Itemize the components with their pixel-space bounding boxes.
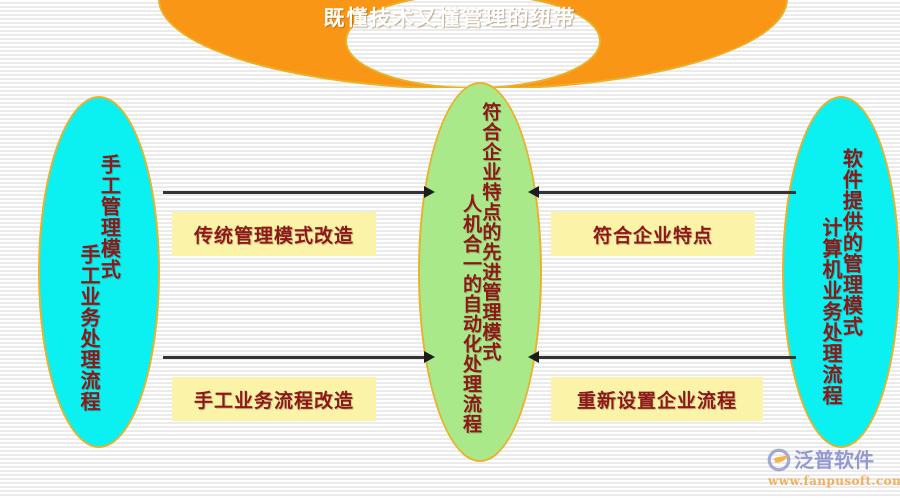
arrow-shaft: [537, 191, 796, 194]
integrated-mode-ellipse: 符合企业特点的先进管理模式 人机合一的自动化处理流程: [418, 82, 542, 462]
integrated-mode-secondary-label: 人机合一的自动化处理流程: [461, 194, 480, 434]
fanpu-logo-icon: [766, 447, 792, 473]
arrow-right-top: [528, 186, 796, 198]
arrow-shaft: [537, 356, 796, 359]
label-right-bottom: 重新设置企业流程: [551, 377, 763, 421]
slide-canvas: 既懂技术又懂管理的纽带 手工管理模式 手工业务处理流程 符合企业特点的先进管理模…: [0, 0, 900, 498]
arrow-left-bottom: [163, 351, 435, 363]
watermark-brand-row: 泛普软件: [766, 447, 874, 473]
label-left-bottom: 手工业务流程改造: [172, 377, 376, 421]
software-mode-secondary-label: 计算机业务处理流程: [821, 217, 841, 406]
arrow-head-right-icon: [424, 351, 435, 363]
arrow-shaft: [163, 191, 426, 194]
watermark-logo: 泛普软件 www.fanpusoft.com: [766, 447, 898, 495]
arrow-head-right-icon: [424, 186, 435, 198]
arrow-head-left-icon: [528, 186, 539, 198]
label-right-top: 符合企业特点: [551, 212, 755, 256]
manual-mode-ellipse: 手工管理模式 手工业务处理流程: [38, 96, 160, 448]
label-left-top: 传统管理模式改造: [172, 212, 376, 256]
slide-title: 既懂技术又懂管理的纽带: [0, 2, 900, 32]
software-mode-ellipse: 软件提供的管理模式 计算机业务处理流程: [782, 96, 900, 448]
watermark-brand-text: 泛普软件: [794, 450, 874, 470]
software-mode-primary-label: 软件提供的管理模式: [841, 148, 861, 337]
manual-mode-secondary-label: 手工业务处理流程: [79, 244, 99, 412]
arrow-left-top: [163, 186, 435, 198]
manual-mode-primary-label: 手工管理模式: [99, 154, 119, 280]
watermark-url-text: www.fanpusoft.com: [768, 474, 900, 488]
arrow-right-bottom: [528, 351, 796, 363]
arrow-head-left-icon: [528, 351, 539, 363]
integrated-mode-primary-label: 符合企业特点的先进管理模式: [480, 102, 499, 362]
arrow-shaft: [163, 356, 426, 359]
